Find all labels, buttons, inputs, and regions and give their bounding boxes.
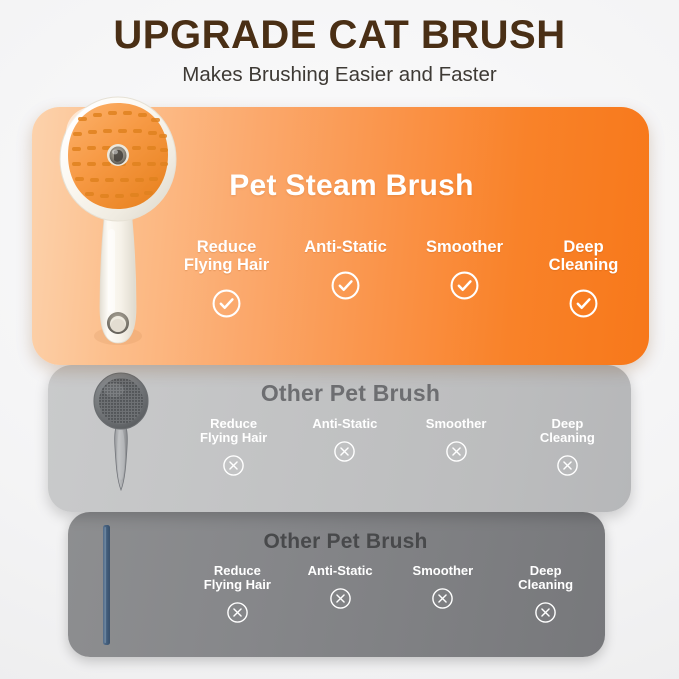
- page-subtitle: Makes Brushing Easier and Faster: [0, 64, 679, 87]
- feature-label: Smoother: [426, 239, 503, 257]
- check-icon: [449, 270, 480, 306]
- feature-list: Reduce Flying Hair Anti-Static: [178, 417, 631, 482]
- feature-item: Smoother: [392, 564, 495, 629]
- cross-icon: [534, 601, 557, 629]
- infographic-root: UPGRADE CAT BRUSH Makes Brushing Easier …: [0, 0, 679, 679]
- feature-label: Reduce Flying Hair: [184, 239, 269, 275]
- feature-item: Anti-Static: [289, 417, 400, 482]
- feature-label: Deep Cleaning: [540, 417, 595, 445]
- steam-brush-icon: [48, 91, 188, 368]
- comparison-row-other-pet-brush-slicker: Other Pet Brush: [48, 365, 631, 512]
- feature-item: Deep Cleaning: [512, 417, 623, 482]
- feature-item: Smoother: [405, 239, 524, 324]
- feature-item: Anti-Static: [289, 564, 392, 629]
- row-title: Other Pet Brush: [70, 380, 631, 407]
- feature-label: Reduce Flying Hair: [204, 564, 271, 592]
- check-icon: [330, 270, 361, 306]
- header: UPGRADE CAT BRUSH Makes Brushing Easier …: [0, 14, 679, 87]
- feature-item: Deep Cleaning: [494, 564, 597, 629]
- cross-icon: [556, 454, 579, 482]
- feature-label: Deep Cleaning: [518, 564, 573, 592]
- feature-label: Deep Cleaning: [549, 239, 619, 275]
- feature-label: Anti-Static: [312, 417, 377, 431]
- check-icon: [211, 288, 242, 324]
- feature-item: Reduce Flying Hair: [178, 417, 289, 482]
- cross-icon: [222, 454, 245, 482]
- page-title: UPGRADE CAT BRUSH: [0, 14, 679, 56]
- feature-list: Reduce Flying Hair Anti-Static: [186, 564, 605, 629]
- feature-label: Anti-Static: [304, 239, 387, 257]
- feature-label: Anti-Static: [308, 564, 373, 578]
- check-icon: [568, 288, 599, 324]
- steel-comb-icon: [96, 524, 156, 653]
- feature-label: Reduce Flying Hair: [200, 417, 267, 445]
- cross-icon: [329, 587, 352, 615]
- feature-item: Reduce Flying Hair: [186, 564, 289, 629]
- comparison-row-pet-steam-brush: Pet Steam Brush: [32, 107, 649, 365]
- slicker-brush-icon: [90, 370, 152, 505]
- feature-item: Anti-Static: [286, 239, 405, 324]
- feature-list: Reduce Flying Hair Anti-Static: [167, 239, 649, 324]
- feature-label: Smoother: [413, 564, 474, 578]
- row-title: Other Pet Brush: [86, 530, 605, 554]
- cross-icon: [431, 587, 454, 615]
- cross-icon: [226, 601, 249, 629]
- cross-icon: [333, 440, 356, 468]
- feature-item: Deep Cleaning: [524, 239, 643, 324]
- feature-item: Smoother: [401, 417, 512, 482]
- feature-label: Smoother: [426, 417, 487, 431]
- cross-icon: [445, 440, 468, 468]
- comparison-row-other-pet-brush-comb: Other Pet Brush: [68, 512, 605, 657]
